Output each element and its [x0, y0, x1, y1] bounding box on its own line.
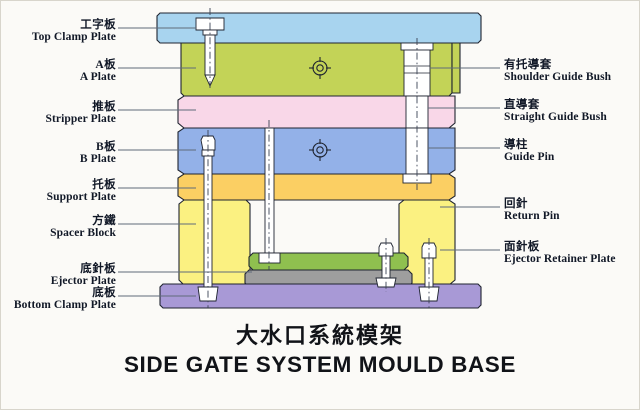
label-a-plate-en: A Plate — [80, 72, 116, 84]
label-b-plate: B板 B Plate — [80, 142, 116, 166]
diagram-title-english: SIDE GATE SYSTEM MOULD BASE — [0, 352, 640, 378]
label-guide-pin-en: Guide Pin — [504, 152, 554, 164]
label-top-clamp-plate-en: Top Clamp Plate — [32, 32, 116, 44]
label-stripper-plate-en: Stripper Plate — [46, 114, 117, 126]
label-support-plate-en: Support Plate — [47, 192, 116, 204]
diagram-title-chinese: 大水口系統模架 — [0, 318, 640, 350]
sprue-ejector-rod — [265, 128, 274, 253]
label-bottom-clamp-plate-en: Bottom Clamp Plate — [14, 300, 116, 312]
label-spacer-block-en: Spacer Block — [50, 228, 116, 240]
label-straight-guide-bush: 直導套 Straight Guide Bush — [504, 100, 607, 124]
label-straight-guide-bush-en: Straight Guide Bush — [504, 112, 607, 124]
label-bottom-clamp-plate: 底板 Bottom Clamp Plate — [14, 288, 116, 312]
sprue-ejector-rod-collar — [259, 253, 280, 263]
cap-screw-collar — [203, 30, 217, 35]
label-a-plate: A板 A Plate — [80, 60, 116, 84]
label-return-pin-en: Return Pin — [504, 211, 560, 223]
label-guide-pin: 導柱 Guide Pin — [504, 140, 554, 164]
label-ejector-retainer-plate-en: Ejector Retainer Plate — [504, 254, 616, 266]
label-support-plate: 托板 Support Plate — [47, 180, 116, 204]
label-ejector-retainer-plate: 面針板 Ejector Retainer Plate — [504, 242, 616, 266]
label-ejector-plate: 底針板 Ejector Plate — [51, 264, 116, 288]
label-stripper-plate: 推板 Stripper Plate — [46, 102, 117, 126]
diagram-title: 大水口系統模架 SIDE GATE SYSTEM MOULD BASE — [0, 318, 640, 378]
label-b-plate-en: B Plate — [80, 154, 116, 166]
label-shoulder-guide-bush: 有托導套 Shoulder Guide Bush — [504, 60, 611, 84]
label-top-clamp-plate: 工字板 Top Clamp Plate — [32, 20, 116, 44]
label-return-pin: 回針 Return Pin — [504, 199, 560, 223]
mould-base-diagram-page: .o { stroke:#1f2430; stroke-width:1.1; }… — [0, 0, 640, 410]
label-shoulder-guide-bush-en: Shoulder Guide Bush — [504, 72, 611, 84]
label-spacer-block: 方鐵 Spacer Block — [50, 216, 116, 240]
